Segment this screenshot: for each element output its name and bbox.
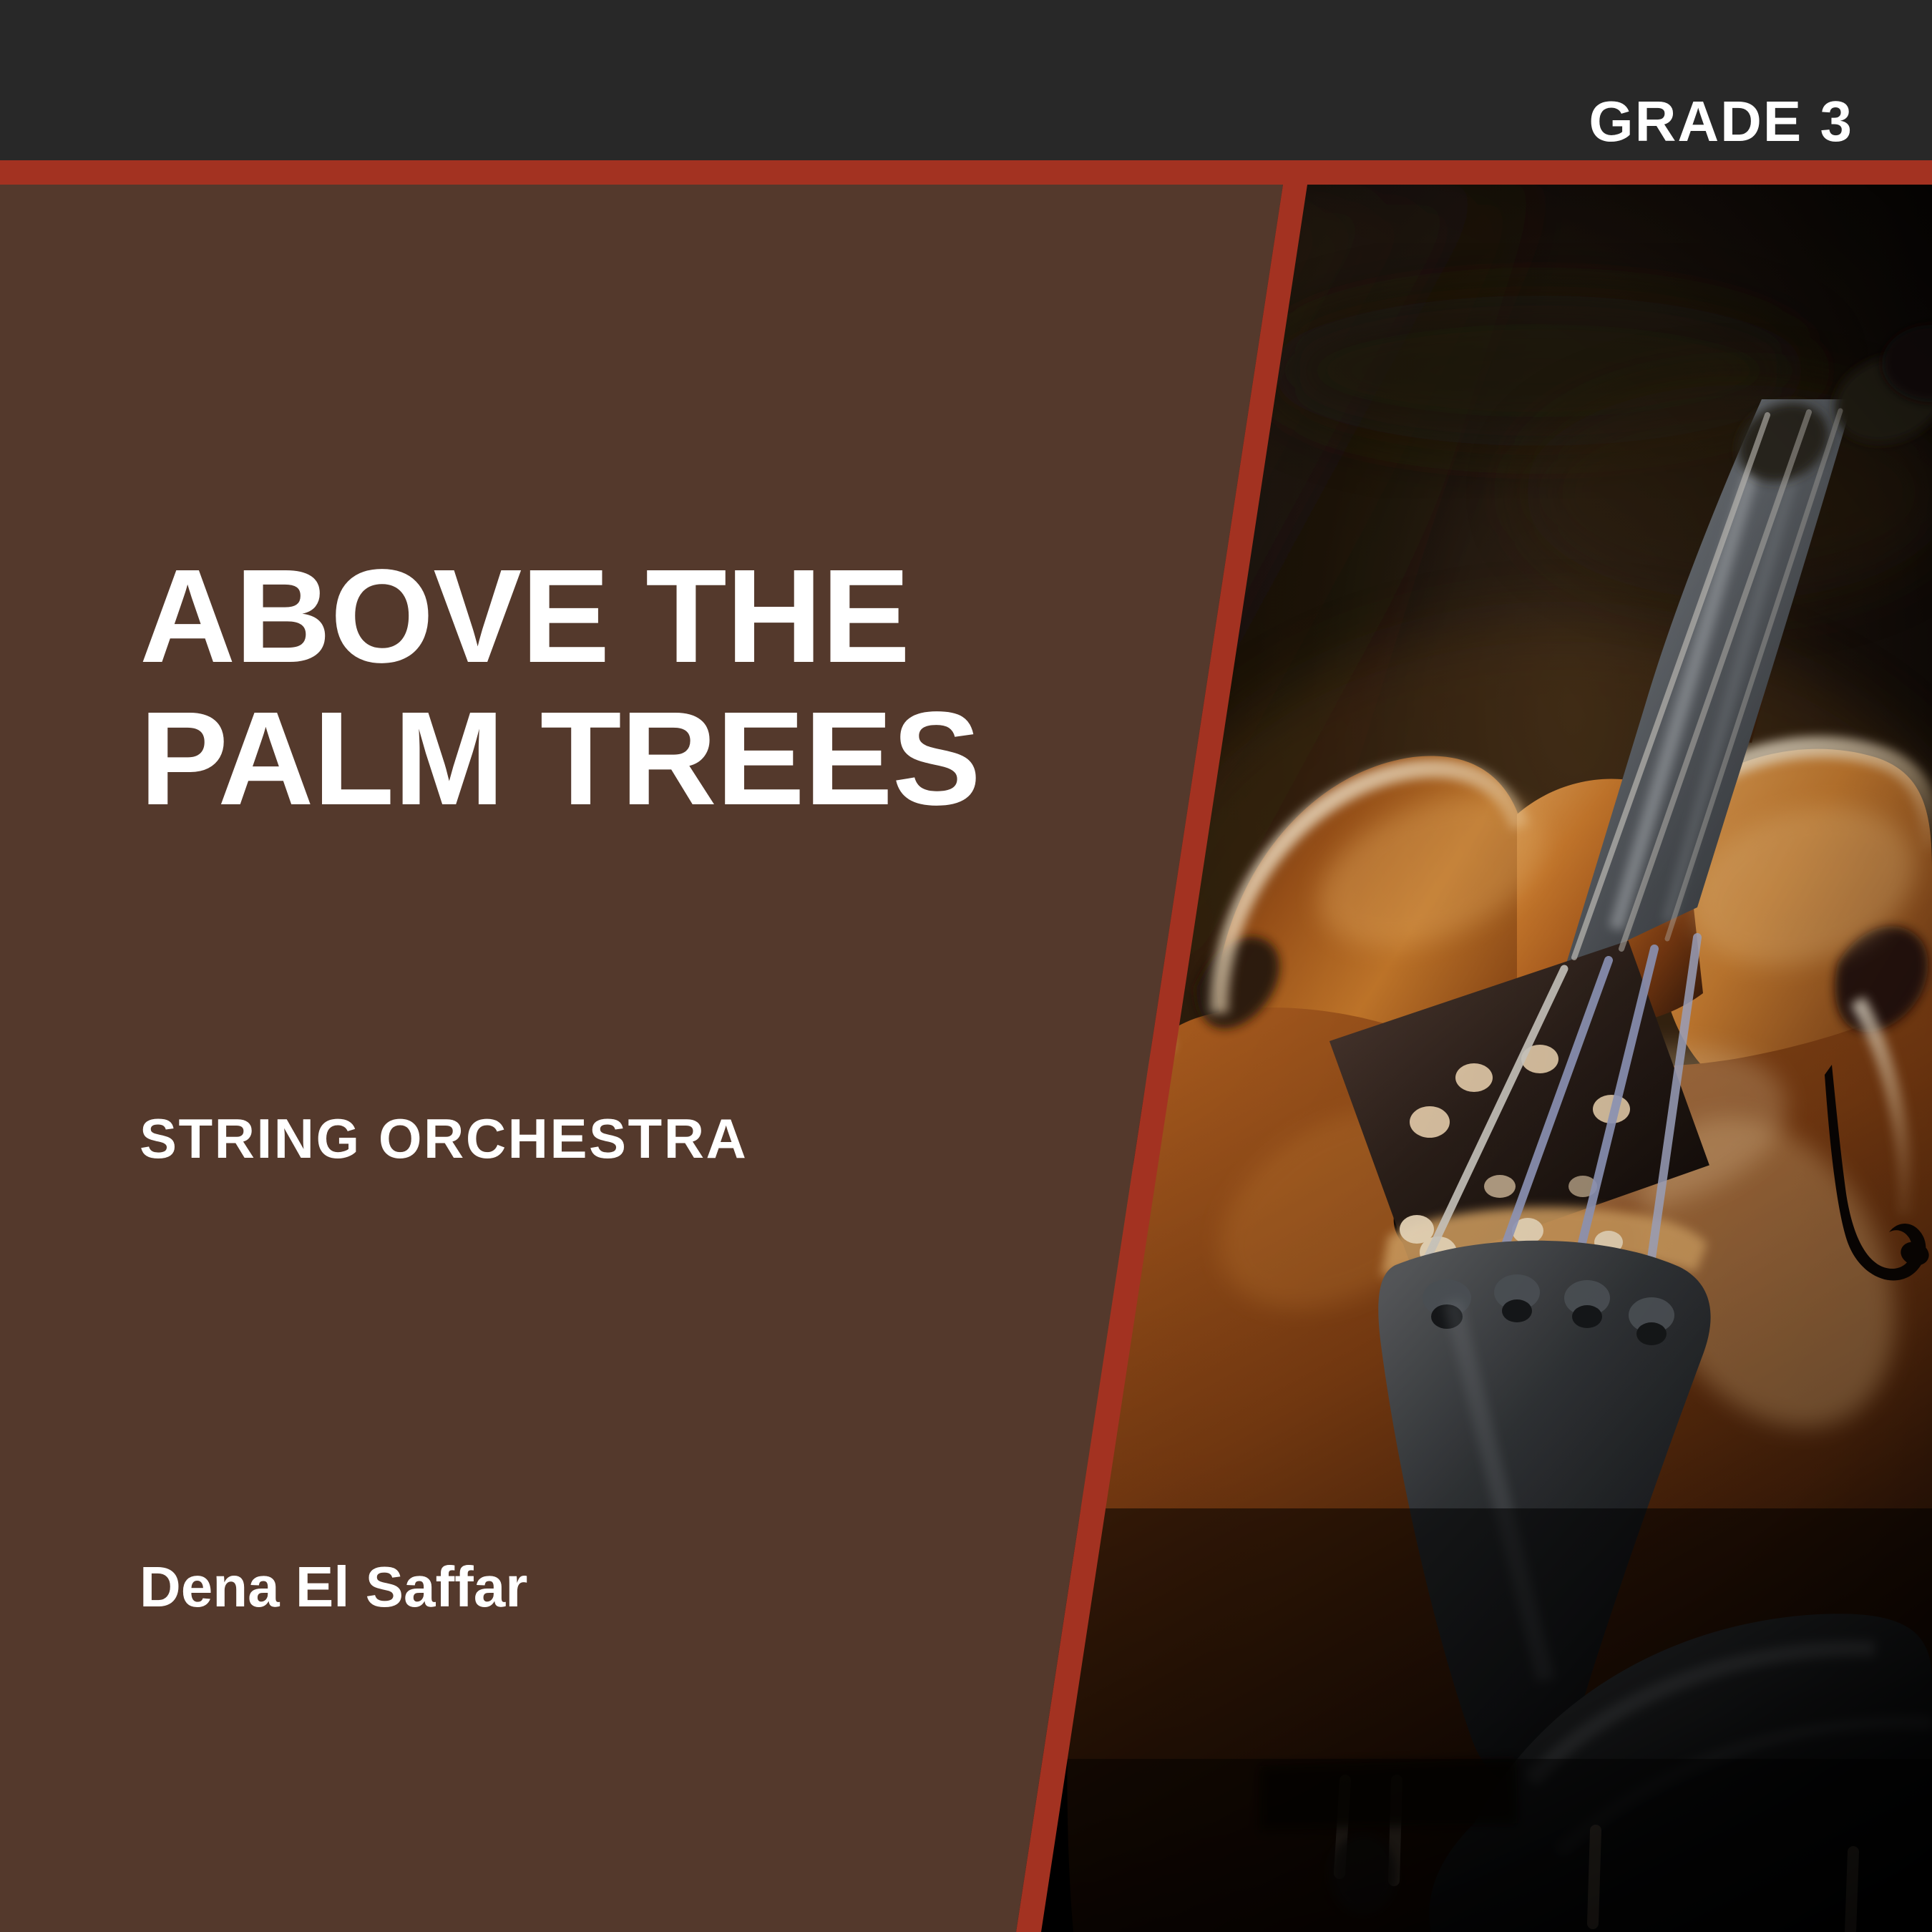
ensemble-label: STRING ORCHESTRA [140, 1111, 748, 1166]
album-cover: GRADE 3 ABOVE THE PALM TREES STRING ORCH… [0, 0, 1932, 1932]
title-block: ABOVE THE PALM TREES [140, 545, 984, 830]
header-accent-rule [0, 160, 1932, 185]
page-title: ABOVE THE PALM TREES [140, 545, 984, 830]
composer-name: Dena El Saffar [140, 1558, 527, 1616]
grade-label: GRADE 3 [1589, 93, 1853, 150]
